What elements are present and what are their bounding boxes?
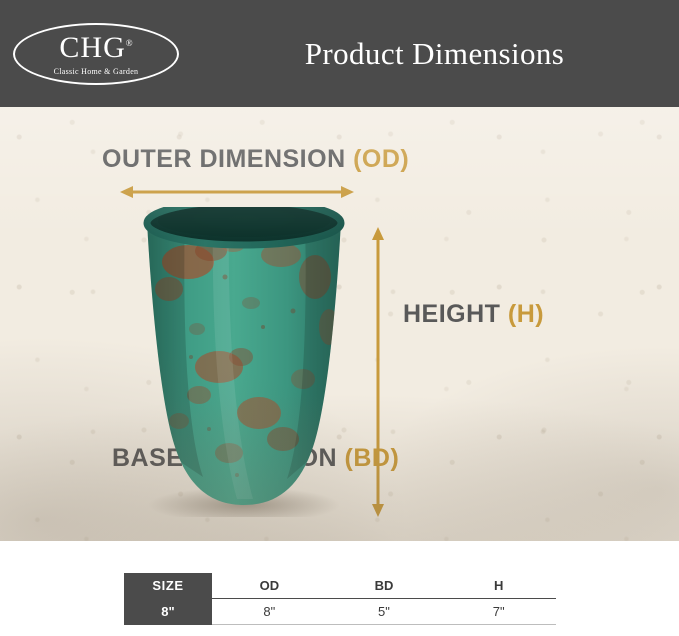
table-header-h: H: [441, 573, 556, 599]
ceramic-planter-image: [133, 207, 355, 517]
table-cell-h: 7": [441, 599, 556, 625]
brand-logo: CHG® Classic Home & Garden: [12, 22, 180, 86]
label-outer-dimension: OUTER DIMENSION (OD): [102, 145, 409, 174]
logo-wordmark: CHG®: [59, 33, 132, 63]
logo-ellipse: CHG® Classic Home & Garden: [13, 23, 179, 85]
table-header-bd: BD: [327, 573, 442, 599]
dimensions-table-panel: SIZE OD BD H 8" 8" 5" 7": [0, 541, 679, 636]
label-outer-dimension-text: OUTER DIMENSION: [102, 145, 353, 173]
label-height-text: HEIGHT: [403, 300, 508, 328]
logo-tagline: Classic Home & Garden: [54, 67, 139, 76]
table-row: 8" 8" 5" 7": [124, 599, 556, 625]
table-header-od: OD: [212, 573, 327, 599]
table-cell-bd: 5": [327, 599, 442, 625]
page-title: Product Dimensions: [190, 0, 679, 107]
dimension-diagram: OUTER DIMENSION (OD) BASE DIMENSION (BD)…: [0, 107, 679, 541]
label-height: HEIGHT (H): [403, 300, 544, 329]
height-arrow-icon: [371, 227, 385, 517]
table-header-row: SIZE OD BD H: [124, 573, 556, 599]
label-height-abbr: (H): [508, 300, 544, 328]
product-dimensions-page: CHG® Classic Home & Garden Product Dimen…: [0, 0, 679, 636]
label-outer-dimension-abbr: (OD): [353, 145, 409, 173]
outer-dimension-arrow-icon: [120, 185, 354, 199]
header-bar: CHG® Classic Home & Garden Product Dimen…: [0, 0, 679, 107]
logo-wordmark-text: CHG: [59, 31, 125, 64]
table-cell-od: 8": [212, 599, 327, 625]
table-cell-size: 8": [124, 599, 212, 625]
table-header-size: SIZE: [124, 573, 212, 599]
logo-trademark: ®: [126, 38, 133, 48]
planter-illustration: [133, 207, 355, 517]
dimensions-table: SIZE OD BD H 8" 8" 5" 7": [124, 573, 556, 625]
